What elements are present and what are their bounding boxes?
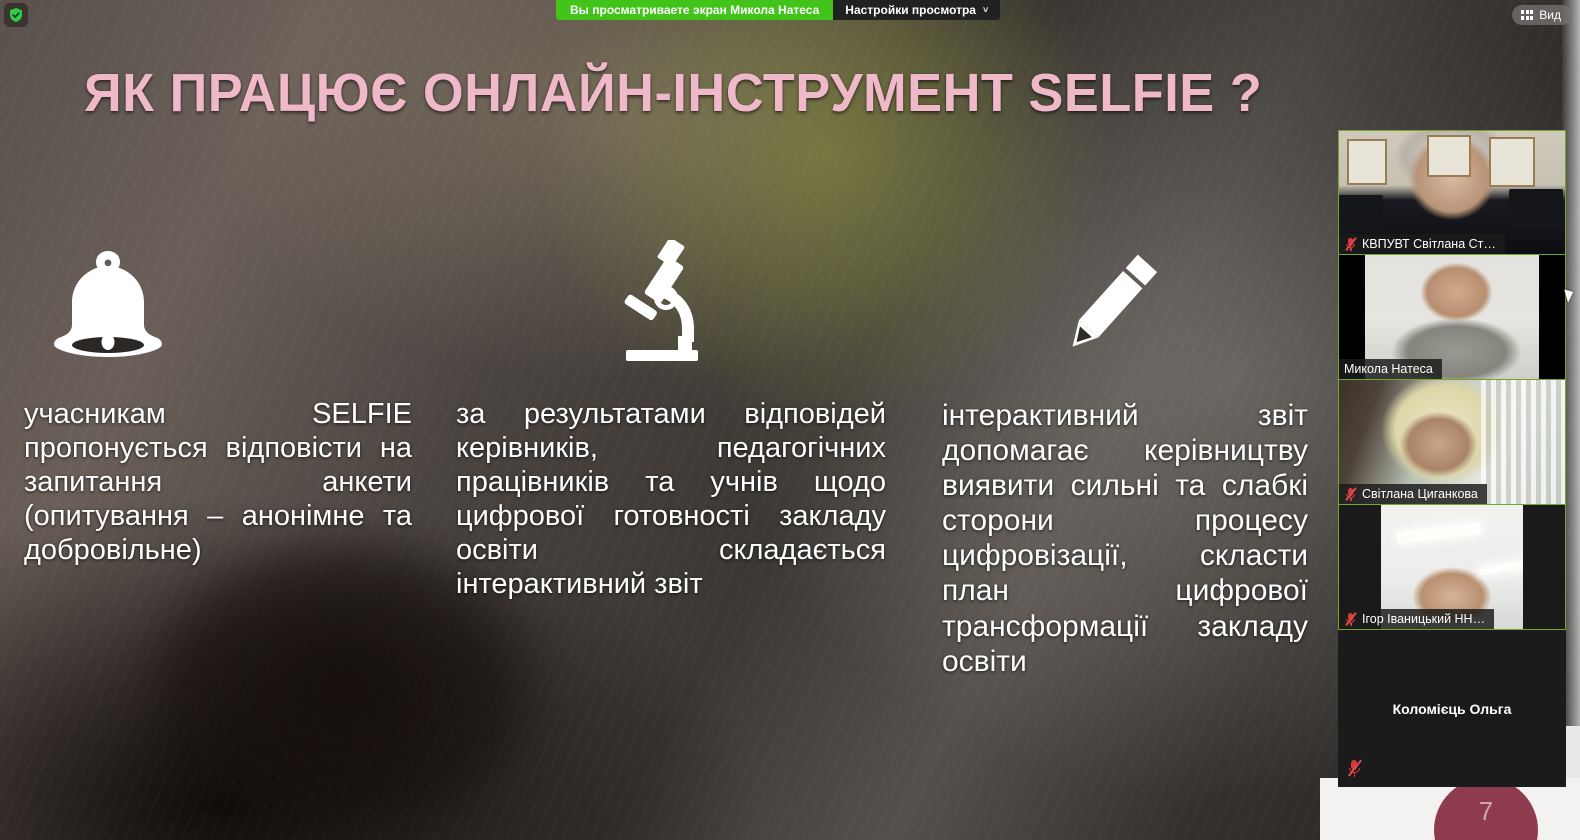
slide-title: ЯК ПРАЦЮЄ ОНЛАЙН-ІНСТРУМЕНТ SELFIE ? (84, 62, 1248, 124)
pencil-icon (942, 215, 1308, 365)
participant-tile-3[interactable]: Світлана Циганкова (1338, 380, 1566, 505)
view-settings-button[interactable]: Настройки просмотра ˅ (833, 0, 1000, 20)
bell-icon (24, 215, 412, 365)
participant-tile-2[interactable]: Микола Натеса (1338, 255, 1566, 380)
participant-name-2: Микола Натеса (1344, 362, 1433, 376)
slide-column-3-text: інтерактивний звіт допомагає керівництву… (942, 398, 1308, 679)
participant-name-bar-1: КВПУВТ Світлана Ст… (1339, 234, 1505, 254)
view-settings-label: Настройки просмотра (845, 3, 976, 17)
participant-name-bar-2: Микола Натеса (1339, 359, 1442, 379)
participant-name-4: Ігор Іваницький НН… (1362, 612, 1485, 626)
zoom-meeting-window: ЯК ПРАЦЮЄ ОНЛАЙН-ІНСТРУМЕНТ SELFIE ? уча… (0, 0, 1580, 840)
participant-name-bar-4: Ігор Іваницький НН… (1339, 609, 1494, 629)
slide-column-3: інтерактивний звіт допомагає керівництву… (942, 215, 1308, 679)
participant-filmstrip: КВПУВТ Світлана Ст… Микола Натеса Світла… (1338, 130, 1566, 787)
slide-column-1-text: учасникам SELFIE пропонується відповісти… (24, 398, 412, 568)
participant-name-bar-3: Світлана Циганкова (1339, 484, 1487, 504)
slide-column-2-text: за результатами відповідей керівників, п… (456, 398, 886, 602)
slide-column-2: за результатами відповідей керівників, п… (456, 215, 886, 602)
participant-name-3: Світлана Циганкова (1362, 487, 1478, 501)
participant-tile-5[interactable]: Коломієць Ольга (1338, 630, 1566, 787)
grid-view-icon (1521, 10, 1533, 21)
view-layout-button[interactable]: Вид (1512, 5, 1572, 25)
participant-tile-4[interactable]: Ігор Іваницький НН… (1338, 505, 1566, 630)
share-status-banner: Вы просматриваете экран Микола Натеса (556, 0, 833, 20)
screen-share-topbar: Вы просматриваете экран Микола Натеса На… (556, 0, 1000, 20)
microphone-muted-icon (1346, 759, 1363, 777)
participant-name-1: КВПУВТ Світлана Ст… (1362, 237, 1496, 251)
microphone-muted-icon (1344, 612, 1357, 626)
view-layout-label: Вид (1539, 8, 1561, 22)
security-shield-icon[interactable] (4, 3, 28, 27)
slide-columns: учасникам SELFIE пропонується відповісти… (0, 215, 1330, 735)
microscope-icon (456, 215, 886, 365)
participant-tile-1[interactable]: КВПУВТ Світлана Ст… (1338, 130, 1566, 255)
slide-column-1: учасникам SELFIE пропонується відповісти… (24, 215, 412, 568)
microphone-muted-icon (1344, 237, 1357, 251)
chevron-down-icon: ˅ (983, 5, 988, 15)
microphone-muted-icon (1344, 487, 1357, 501)
participant-name-5: Коломієць Ольга (1393, 701, 1512, 717)
